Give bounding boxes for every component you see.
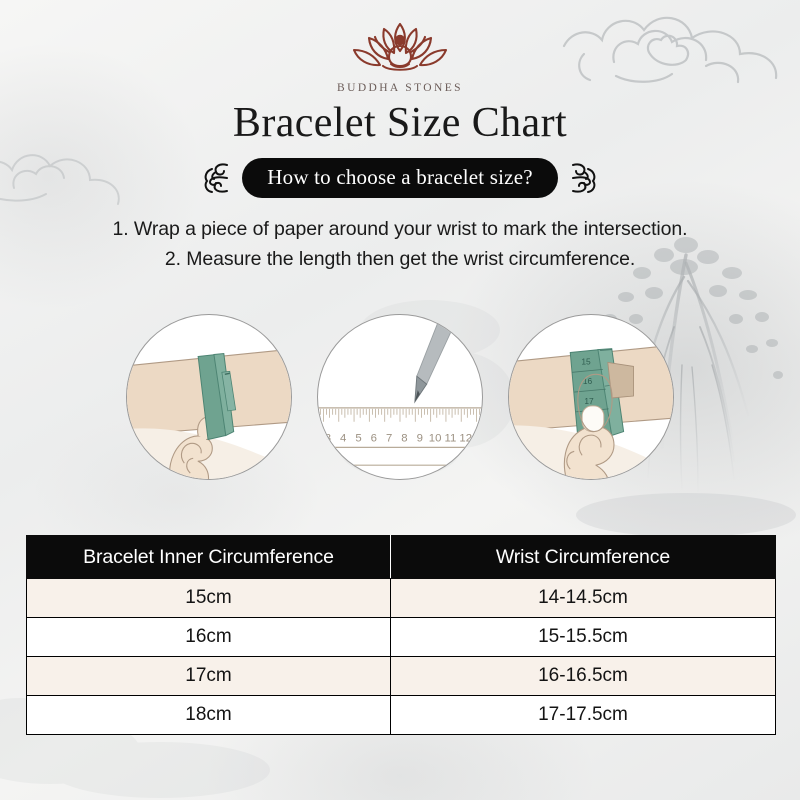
ruler-tick-label: 10 xyxy=(429,432,442,444)
table-row: 16cm15-15.5cm xyxy=(27,618,776,657)
ruler-tick-label: 6 xyxy=(371,432,377,444)
subtitle-pill: How to choose a bracelet size? xyxy=(242,158,557,198)
cell-bracelet-circumference: 18cm xyxy=(27,696,391,735)
tape-measure-on-wrist-icon: 151617 xyxy=(509,315,673,479)
ruler-tick-label: 8 xyxy=(401,432,407,444)
ruler-and-pencil-icon: 3456789101112 xyxy=(318,315,482,479)
brand-wordmark: BUDDHA STONES xyxy=(0,82,800,94)
instructions-list: 1. Wrap a piece of paper around your wri… xyxy=(0,214,800,274)
ruler-tick-label: 5 xyxy=(355,432,361,444)
instruction-step-2: 2. Measure the length then get the wrist… xyxy=(0,244,800,274)
ruler-tick-label: 12 xyxy=(459,432,472,444)
subtitle-row: How to choose a bracelet size? xyxy=(0,156,800,200)
ornament-curl-right-icon xyxy=(570,159,600,197)
tape-measure-label: 16 xyxy=(583,376,593,386)
tape-measure-label: 15 xyxy=(581,356,591,366)
cell-bracelet-circumference: 15cm xyxy=(27,579,391,618)
ruler-tick-label: 4 xyxy=(340,432,346,444)
lotus-meditation-icon xyxy=(339,18,461,80)
column-header-bracelet: Bracelet Inner Circumference xyxy=(27,536,391,579)
cell-wrist-circumference: 14-14.5cm xyxy=(391,579,776,618)
cell-bracelet-circumference: 16cm xyxy=(27,618,391,657)
table-row: 15cm14-14.5cm xyxy=(27,579,776,618)
illustration-measure-ruler: 3456789101112 xyxy=(317,314,483,480)
ruler-tick-label: 9 xyxy=(417,432,423,444)
brand-logo: BUDDHA STONES xyxy=(0,18,800,94)
ornament-curl-left-icon xyxy=(200,159,230,197)
illustration-row: 3456789101112 xyxy=(0,314,800,486)
wrist-with-paper-strip-icon xyxy=(127,315,291,479)
page-title: Bracelet Size Chart xyxy=(0,98,800,148)
instruction-step-1: 1. Wrap a piece of paper around your wri… xyxy=(0,214,800,244)
size-chart-page: BUDDHA STONES Bracelet Size Chart How to… xyxy=(0,0,800,800)
illustration-read-circumference: 151617 xyxy=(508,314,674,480)
ruler-tick-label: 11 xyxy=(444,432,456,444)
cell-wrist-circumference: 16-16.5cm xyxy=(391,657,776,696)
tape-measure-label: 17 xyxy=(584,396,594,406)
illustration-wrap-paper xyxy=(126,314,292,480)
column-header-wrist: Wrist Circumference xyxy=(391,536,776,579)
table-row: 18cm17-17.5cm xyxy=(27,696,776,735)
cell-wrist-circumference: 17-17.5cm xyxy=(391,696,776,735)
cell-bracelet-circumference: 17cm xyxy=(27,657,391,696)
size-table: Bracelet Inner Circumference Wrist Circu… xyxy=(26,535,776,735)
cell-wrist-circumference: 15-15.5cm xyxy=(391,618,776,657)
table-header-row: Bracelet Inner Circumference Wrist Circu… xyxy=(27,536,776,579)
table-row: 17cm16-16.5cm xyxy=(27,657,776,696)
ruler-tick-label: 7 xyxy=(386,432,392,444)
ruler-tick-label: 3 xyxy=(325,432,331,444)
